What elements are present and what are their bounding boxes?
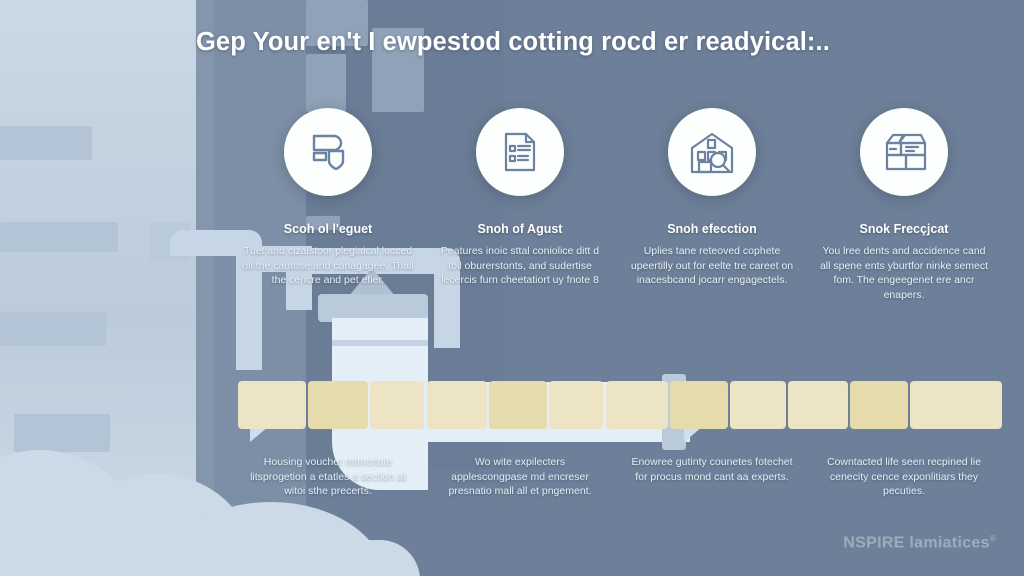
shield-pipe-icon bbox=[284, 108, 372, 196]
brick bbox=[0, 126, 92, 160]
band-block-highlight bbox=[489, 381, 547, 429]
band-block bbox=[788, 381, 848, 429]
band-block-highlight bbox=[308, 381, 368, 429]
feature-card: Snok Frecçjcat You lree dents and accide… bbox=[808, 108, 1000, 302]
feature-card-title: Snoh of Agust bbox=[434, 222, 606, 236]
caption-item: Housing voucher mtmcrtote litsprogetion … bbox=[232, 455, 424, 499]
pipe-seam-ring bbox=[332, 340, 428, 346]
watermark-text: NSPIRE lamiatices bbox=[843, 534, 990, 551]
house-inspection-icon bbox=[668, 108, 756, 196]
band-block-highlight bbox=[850, 381, 908, 429]
wall-panel-left bbox=[0, 0, 196, 576]
brick bbox=[306, 54, 346, 112]
feature-card-title: Snoh efecction bbox=[626, 222, 798, 236]
watermark: NSPIRE lamiatices® bbox=[843, 534, 996, 552]
feature-card-title: Snok Frecçjcat bbox=[818, 222, 990, 236]
band-block bbox=[238, 381, 306, 429]
cloud-shape bbox=[0, 450, 140, 576]
brick bbox=[196, 0, 214, 576]
band-block bbox=[370, 381, 424, 429]
feature-card-title: Scoh ol l'eguet bbox=[242, 222, 414, 236]
feature-card-body: You lree dents and accidence cand all sp… bbox=[818, 244, 990, 302]
feature-card: Snoh of Agust Peatures inoic sttal conio… bbox=[424, 108, 616, 302]
band-block bbox=[910, 381, 1002, 429]
band-block-highlight bbox=[670, 381, 728, 429]
feature-card: Scoh ol l'eguet Tuet and clzalstoor pleg… bbox=[232, 108, 424, 302]
band-block bbox=[427, 381, 487, 429]
feature-cards: Scoh ol l'eguet Tuet and clzalstoor pleg… bbox=[232, 108, 1000, 302]
feature-card: Snoh efecction Uplies tane reteoved coph… bbox=[616, 108, 808, 302]
brick bbox=[0, 222, 118, 252]
page-title: Gep Your en't I ewpestod cotting rocd er… bbox=[196, 28, 896, 57]
feature-card-body: Peatures inoic sttal coniolice ditt d to… bbox=[434, 244, 606, 288]
brick bbox=[0, 312, 106, 346]
pipe-bracket-top bbox=[150, 222, 190, 262]
band-block bbox=[606, 381, 668, 429]
feature-card-body: Uplies tane reteoved cophete upeertilly … bbox=[626, 244, 798, 288]
file-boxes-icon bbox=[860, 108, 948, 196]
watermark-registered-icon: ® bbox=[990, 534, 996, 543]
cloud-shape bbox=[62, 474, 252, 576]
cloud-shape bbox=[156, 502, 386, 576]
document-checklist-icon bbox=[476, 108, 564, 196]
caption-item: Wo wite expilecters applescongpase md en… bbox=[424, 455, 616, 499]
caption-item: Enowree gutinty counetes fotechet for pr… bbox=[616, 455, 808, 499]
brick bbox=[38, 498, 100, 524]
caption-row: Housing voucher mtmcrtote litsprogetion … bbox=[232, 455, 1000, 499]
timeline-band bbox=[0, 381, 1024, 429]
cloud-shape bbox=[0, 540, 420, 576]
feature-card-body: Tuet and clzalstoor plegiaical lucced ol… bbox=[242, 244, 414, 288]
band-block bbox=[549, 381, 603, 429]
infographic-canvas: Gep Your en't I ewpestod cotting rocd er… bbox=[0, 0, 1024, 576]
band-block bbox=[730, 381, 786, 429]
caption-item: Cowntacted life seen recpined lie ceneci… bbox=[808, 455, 1000, 499]
